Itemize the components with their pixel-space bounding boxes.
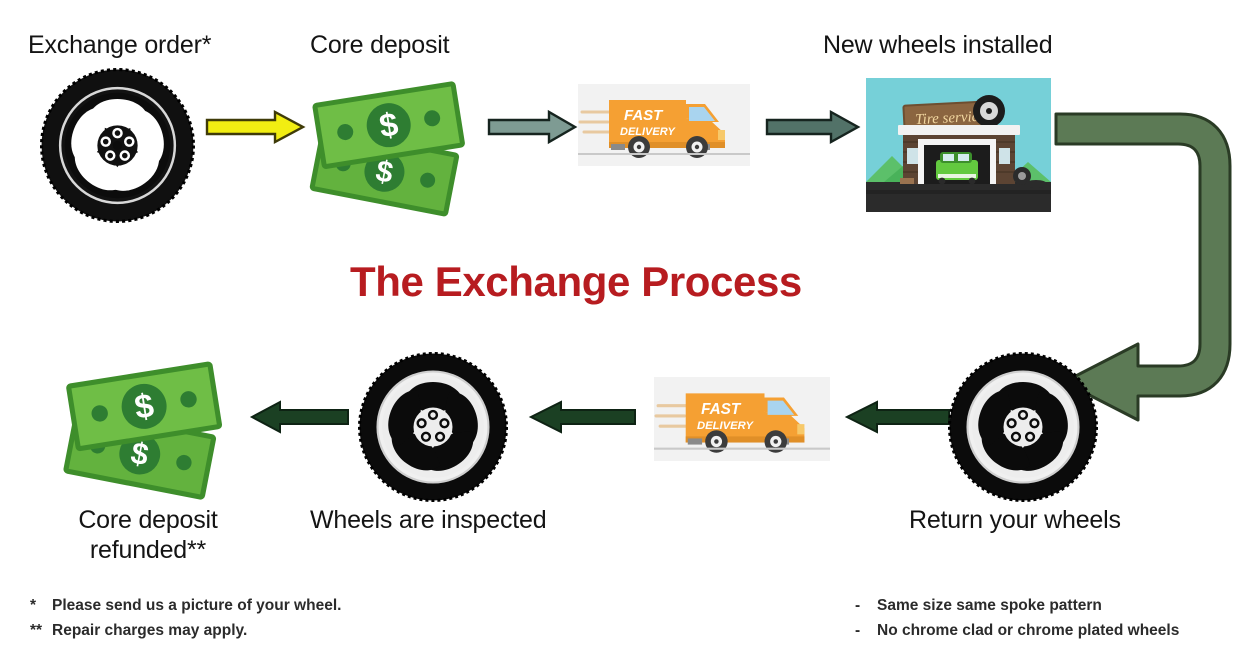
note-right-1: -Same size same spoke pattern: [855, 593, 1102, 618]
note-marker: -: [855, 618, 877, 643]
delivery-van-icon-shipping-out: FAST DELIVERY: [578, 84, 750, 166]
footnote-marker: **: [30, 618, 52, 643]
arrow-2-right: [487, 110, 577, 144]
arrow-4-left: [843, 400, 951, 434]
van-text-delivery: DELIVERY: [697, 420, 755, 432]
note-text: Same size same spoke pattern: [877, 597, 1102, 614]
note-right-2: -No chrome clad or chrome plated wheels: [855, 618, 1179, 643]
van-text-delivery: DELIVERY: [620, 126, 676, 138]
label-exchange-order: Exchange order*: [28, 30, 211, 60]
label-return-your-wheels: Return your wheels: [909, 505, 1121, 535]
arrow-1-right: [205, 110, 305, 144]
van-text-fast: FAST: [624, 107, 664, 124]
wheel-icon-return-wheels: [948, 352, 1098, 502]
delivery-van-icon-shipping-back: FAST DELIVERY: [654, 371, 830, 467]
wheel-icon-wheels-inspected: [358, 352, 508, 502]
label-core-deposit-refunded-line1: Core deposit: [48, 505, 248, 535]
arrow-3-right: [765, 110, 860, 144]
page-title: The Exchange Process: [350, 258, 802, 306]
wheel-icon-exchange-order: [40, 68, 195, 223]
label-core-deposit-refunded-line2: refunded**: [48, 535, 248, 565]
footnote-text: Repair charges may apply.: [52, 622, 247, 639]
footnote-left-2: **Repair charges may apply.: [30, 618, 247, 643]
money-icon-core-deposit: $ $: [305, 72, 480, 207]
footnote-left-1: *Please send us a picture of your wheel.: [30, 593, 341, 618]
note-text: No chrome clad or chrome plated wheels: [877, 622, 1179, 639]
footnote-marker: *: [30, 593, 52, 618]
arrow-6-left: [248, 400, 350, 434]
arrow-5-left: [527, 400, 637, 434]
label-new-wheels-installed: New wheels installed: [823, 30, 1052, 60]
exchange-process-diagram: Exchange order* Core deposit New wheels …: [0, 0, 1250, 666]
note-marker: -: [855, 593, 877, 618]
label-core-deposit: Core deposit: [310, 30, 449, 60]
label-wheels-are-inspected: Wheels are inspected: [310, 505, 546, 535]
money-icon-deposit-refunded: $ $: [58, 352, 238, 490]
footnote-text: Please send us a picture of your wheel.: [52, 597, 341, 614]
tire-service-shop-icon: Tire service: [866, 78, 1051, 212]
van-text-fast: FAST: [701, 401, 742, 418]
